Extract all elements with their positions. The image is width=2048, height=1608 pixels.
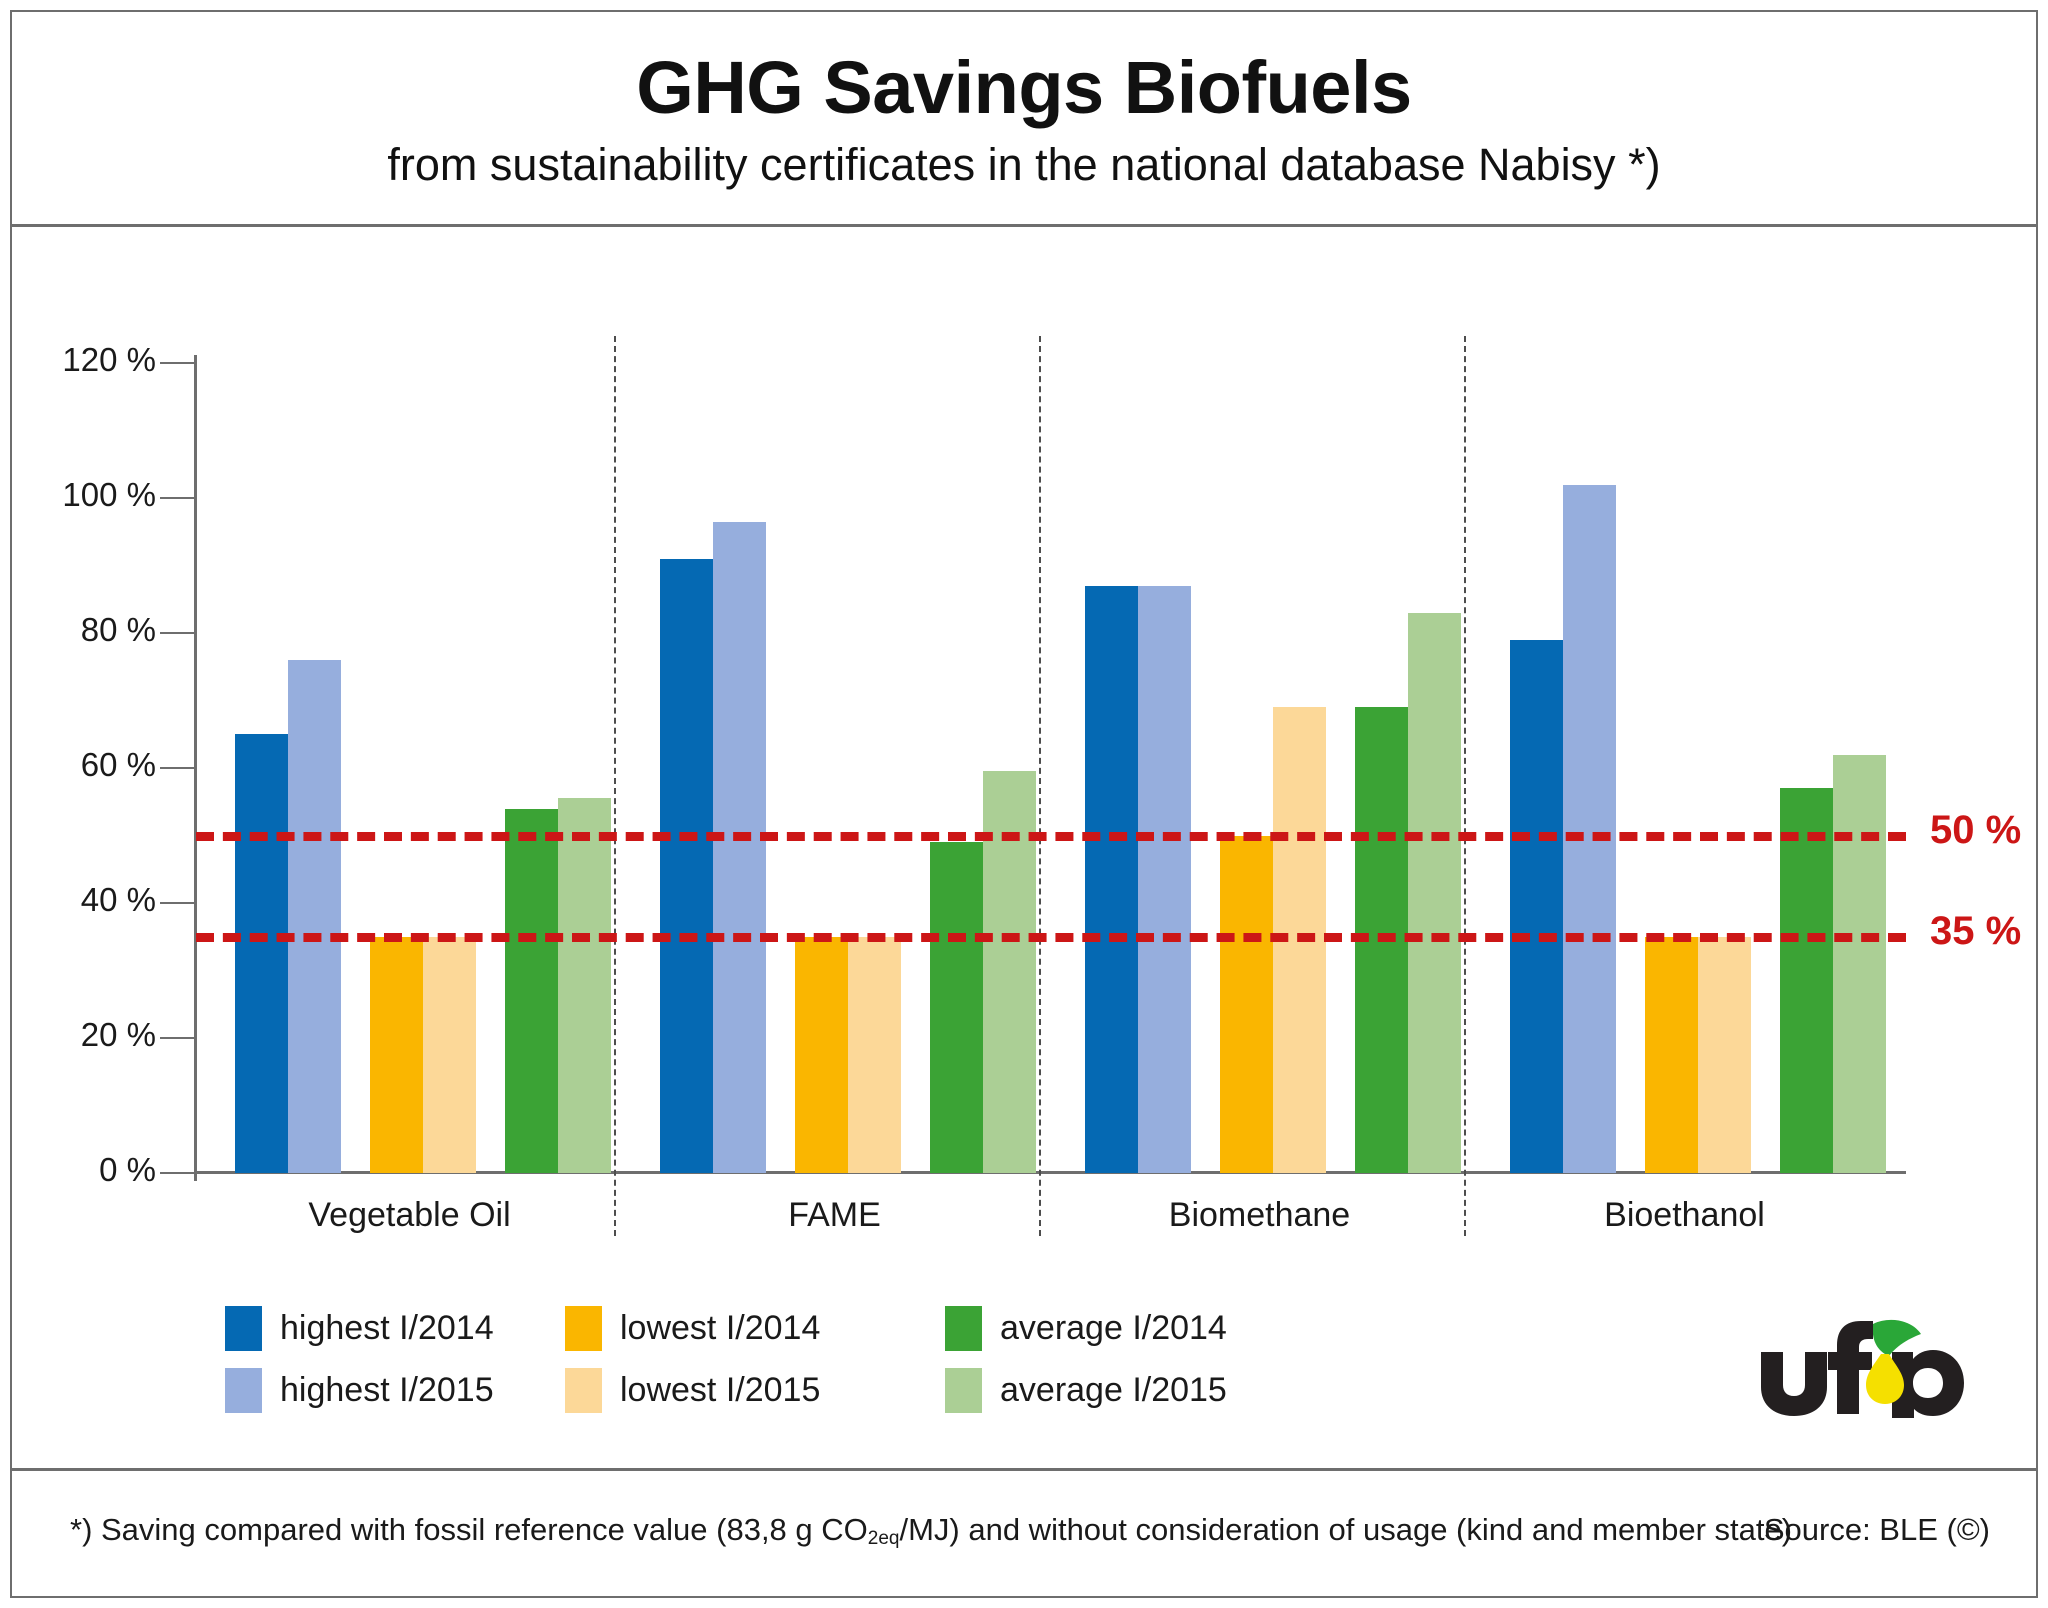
legend-item: lowest I/2014 — [565, 1306, 945, 1351]
legend-item: average I/2015 — [945, 1368, 1285, 1413]
chart-page: GHG Savings Biofuels from sustainability… — [0, 0, 2048, 1608]
source-label: Source: BLE (©) — [1764, 1512, 1990, 1548]
legend-label: lowest I/2015 — [620, 1371, 820, 1410]
legend-swatch — [225, 1368, 262, 1413]
legend-swatch — [565, 1368, 602, 1413]
legend-item: highest I/2014 — [225, 1306, 565, 1351]
page-subtitle: from sustainability certificates in the … — [12, 125, 2036, 191]
legend-swatch — [945, 1306, 982, 1351]
page-title: GHG Savings Biofuels — [12, 12, 2036, 125]
chart-header: GHG Savings Biofuels from sustainability… — [12, 12, 2036, 227]
legend-label: lowest I/2014 — [620, 1309, 820, 1348]
footnote-suffix: /MJ) and without consideration of usage … — [899, 1512, 1792, 1547]
chart-legend: highest I/2014highest I/2015lowest I/201… — [225, 1300, 1285, 1418]
legend-swatch — [565, 1306, 602, 1351]
legend-item: average I/2014 — [945, 1306, 1285, 1351]
ufop-logo — [1755, 1318, 1985, 1418]
legend-swatch — [225, 1306, 262, 1351]
legend-label: average I/2015 — [1000, 1371, 1227, 1410]
legend-item: highest I/2015 — [225, 1368, 565, 1413]
footnote-subscript: 2eq — [868, 1528, 900, 1549]
legend-swatch — [945, 1368, 982, 1413]
footer-divider — [12, 1468, 2036, 1471]
legend-item: lowest I/2015 — [565, 1368, 945, 1413]
legend-label: average I/2014 — [1000, 1309, 1227, 1348]
ufop-logo-icon — [1755, 1318, 1985, 1418]
legend-label: highest I/2015 — [280, 1371, 494, 1410]
footnote: *) Saving compared with fossil reference… — [70, 1512, 1792, 1550]
legend-label: highest I/2014 — [280, 1309, 494, 1348]
footnote-prefix: *) Saving compared with fossil reference… — [70, 1512, 868, 1547]
